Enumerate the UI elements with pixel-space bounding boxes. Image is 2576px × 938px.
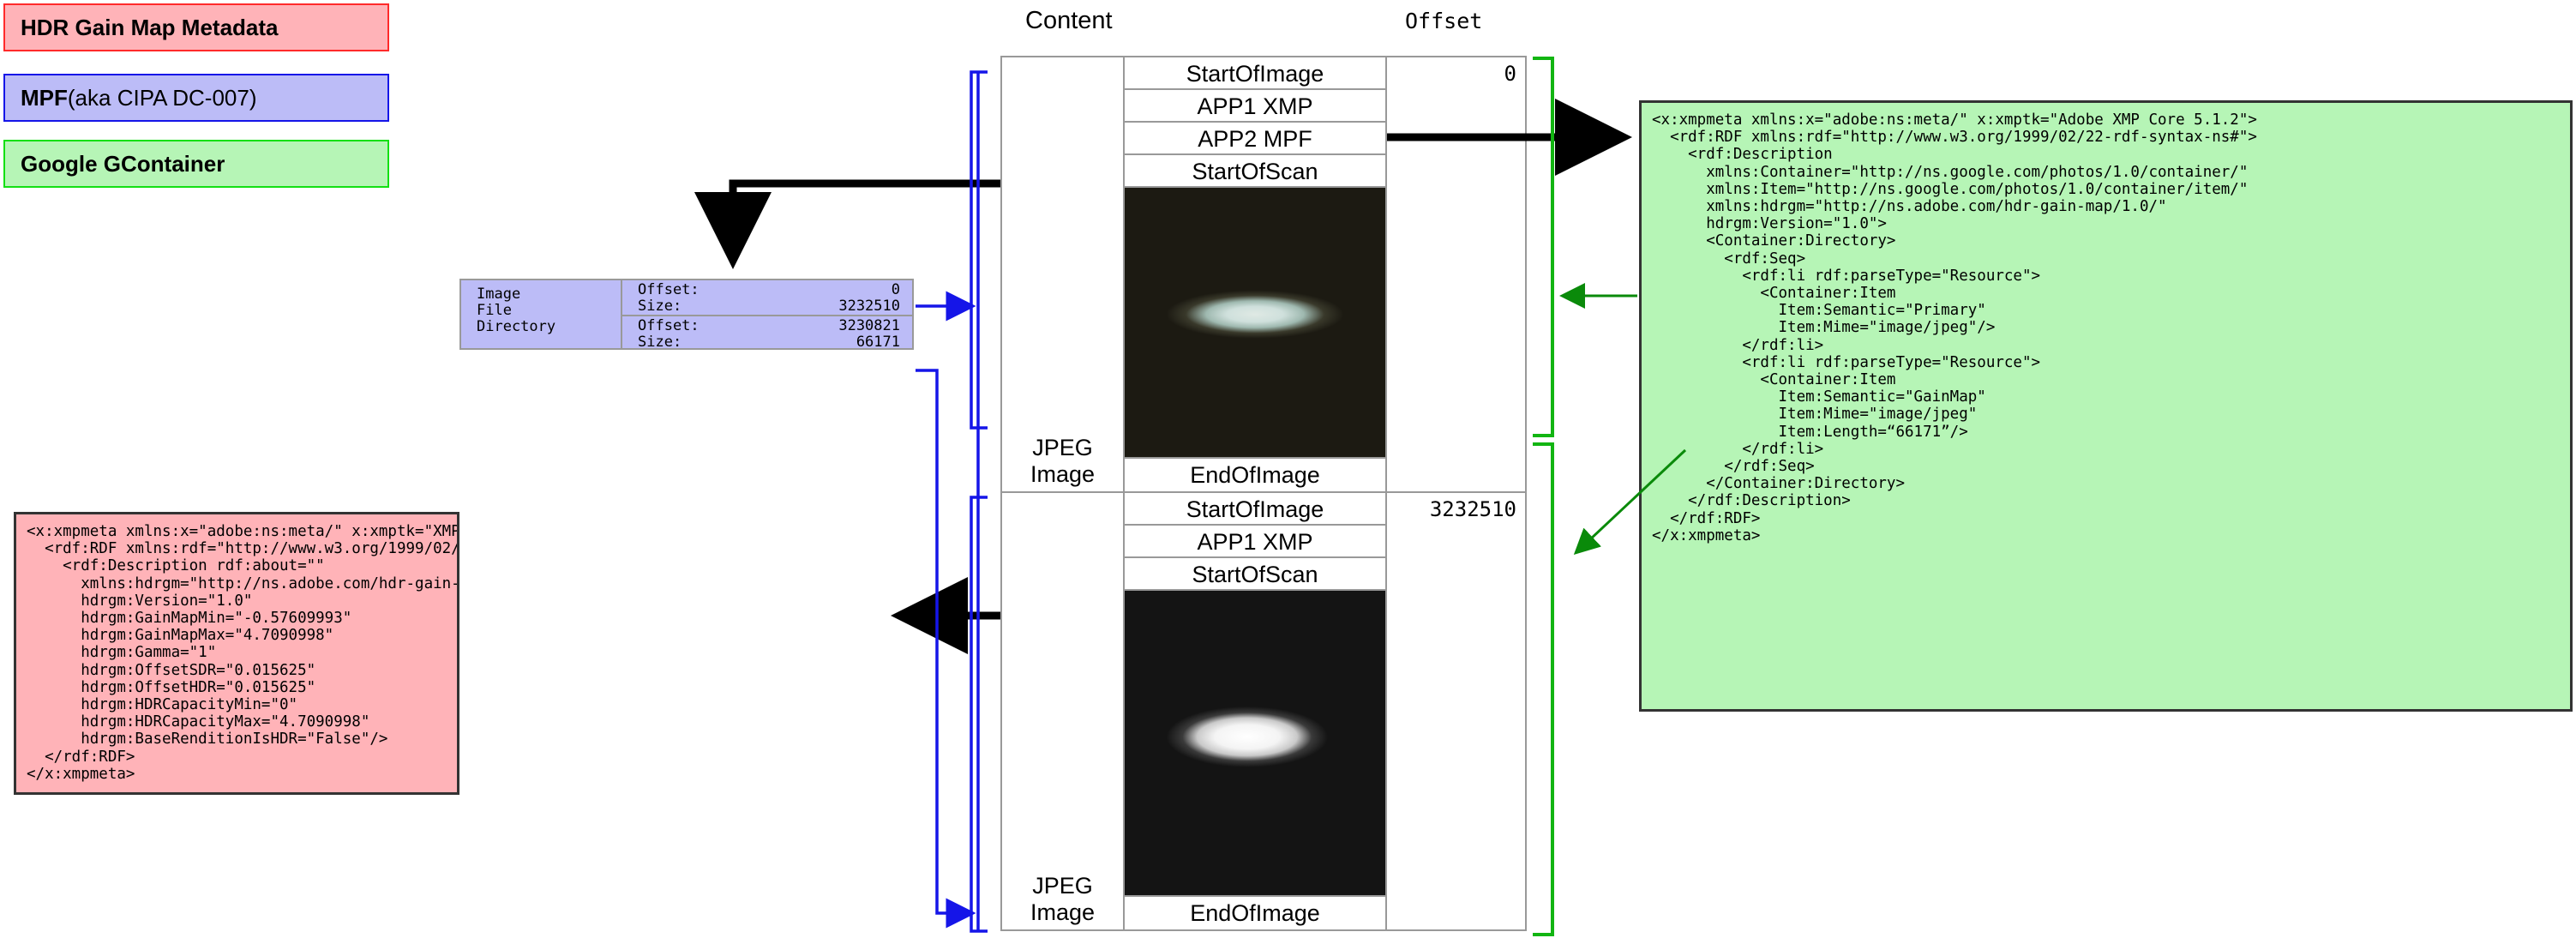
segment-start-of-image-2: StartOfImage [1125,493,1385,526]
segment-app2-mpf-1: APP2 MPF [1125,123,1385,155]
jpeg-block-label-gainmap: JPEG Image [1002,493,1125,929]
jpeg-label-line2: Image [1030,461,1095,488]
green-bracket-primary [1533,58,1552,436]
ifd-size-key-1: Size: [638,334,682,351]
thumbnail-primary-photo [1125,188,1385,459]
gain-map-grayscale-icon [1125,591,1385,895]
jpeg-label-line1-2: JPEG [1030,873,1095,899]
ifd-size-value-0: 3232510 [838,298,900,315]
ifd-entry-gainmap: Offset:3230821 Size:66171 [622,315,912,351]
segment-end-of-image-2: EndOfImage [1125,897,1385,929]
ifd-offset-key-0: Offset: [638,282,700,298]
image-file-directory-box: Image File Directory Offset:0 Size:32325… [459,279,914,350]
ifd-offset-key-1: Offset: [638,318,700,334]
thumbnail-gain-map [1125,591,1385,897]
jpeg-block-primary: JPEG Image StartOfImage APP1 XMP APP2 MP… [1002,57,1525,493]
jpeg-block-gainmap: JPEG Image StartOfImage APP1 XMP StartOf… [1002,493,1525,929]
legend-hdr-gain-map-metadata: HDR Gain Map Metadata [3,3,389,51]
jpeg-file-structure-table: JPEG Image StartOfImage APP1 XMP APP2 MP… [1000,56,1527,931]
ifd-entries: Offset:0 Size:3232510 Offset:3230821 Siz… [622,280,912,348]
gcontainer-xmp-code: <x:xmpmeta xmlns:x="adobe:ns:meta/" x:xm… [1639,100,2573,712]
arrow-ifd-entry1-to-gainmap [916,370,973,913]
segment-start-of-scan-1: StartOfScan [1125,155,1385,188]
legend-hdr-label: HDR Gain Map Metadata [21,15,279,41]
blue-bracket-gainmap [971,497,988,931]
segment-app1-xmp-2: APP1 XMP [1125,526,1385,558]
segment-start-of-scan-2: StartOfScan [1125,558,1385,591]
legend-gcontainer-label: Google GContainer [21,151,225,177]
column-header-offset: Offset [1405,9,1482,33]
blue-bracket-primary [971,72,988,428]
offset-column-gainmap: 3232510 [1387,493,1525,929]
primary-photo-cave-beach-icon [1125,188,1385,457]
ifd-offset-value-0: 0 [892,282,900,298]
green-bracket-gainmap [1533,444,1552,935]
segment-end-of-image-1: EndOfImage [1125,459,1385,491]
ifd-label: Image File Directory [461,280,622,348]
jpeg-label-line2-2: Image [1030,899,1095,926]
segment-column-primary: StartOfImage APP1 XMP APP2 MPF StartOfSc… [1125,57,1387,491]
hdr-gain-map-xmp-code: <x:xmpmeta xmlns:x="adobe:ns:meta/" x:xm… [14,512,459,795]
segment-app1-xmp-1: APP1 XMP [1125,90,1385,123]
legend-mpf-label: MPF [21,85,68,111]
segment-start-of-image-1: StartOfImage [1125,57,1385,90]
segment-column-gainmap: StartOfImage APP1 XMP StartOfScan EndOfI… [1125,493,1387,929]
ifd-entry-primary: Offset:0 Size:3232510 [622,280,912,315]
column-header-content: Content [1025,7,1113,35]
ifd-size-value-1: 66171 [856,334,900,351]
jpeg-label-line1: JPEG [1030,435,1095,461]
jpeg-block-label-primary: JPEG Image [1002,57,1125,491]
legend-google-gcontainer: Google GContainer [3,140,389,188]
offset-column-primary: 0 [1387,57,1525,491]
legend-mpf-suffix: (aka CIPA DC-007) [68,85,257,111]
arrow-app2-mpf-to-ifd [733,183,1000,262]
ifd-size-key-0: Size: [638,298,682,315]
legend-mpf: MPF (aka CIPA DC-007) [3,74,389,122]
ifd-offset-value-1: 3230821 [838,318,900,334]
